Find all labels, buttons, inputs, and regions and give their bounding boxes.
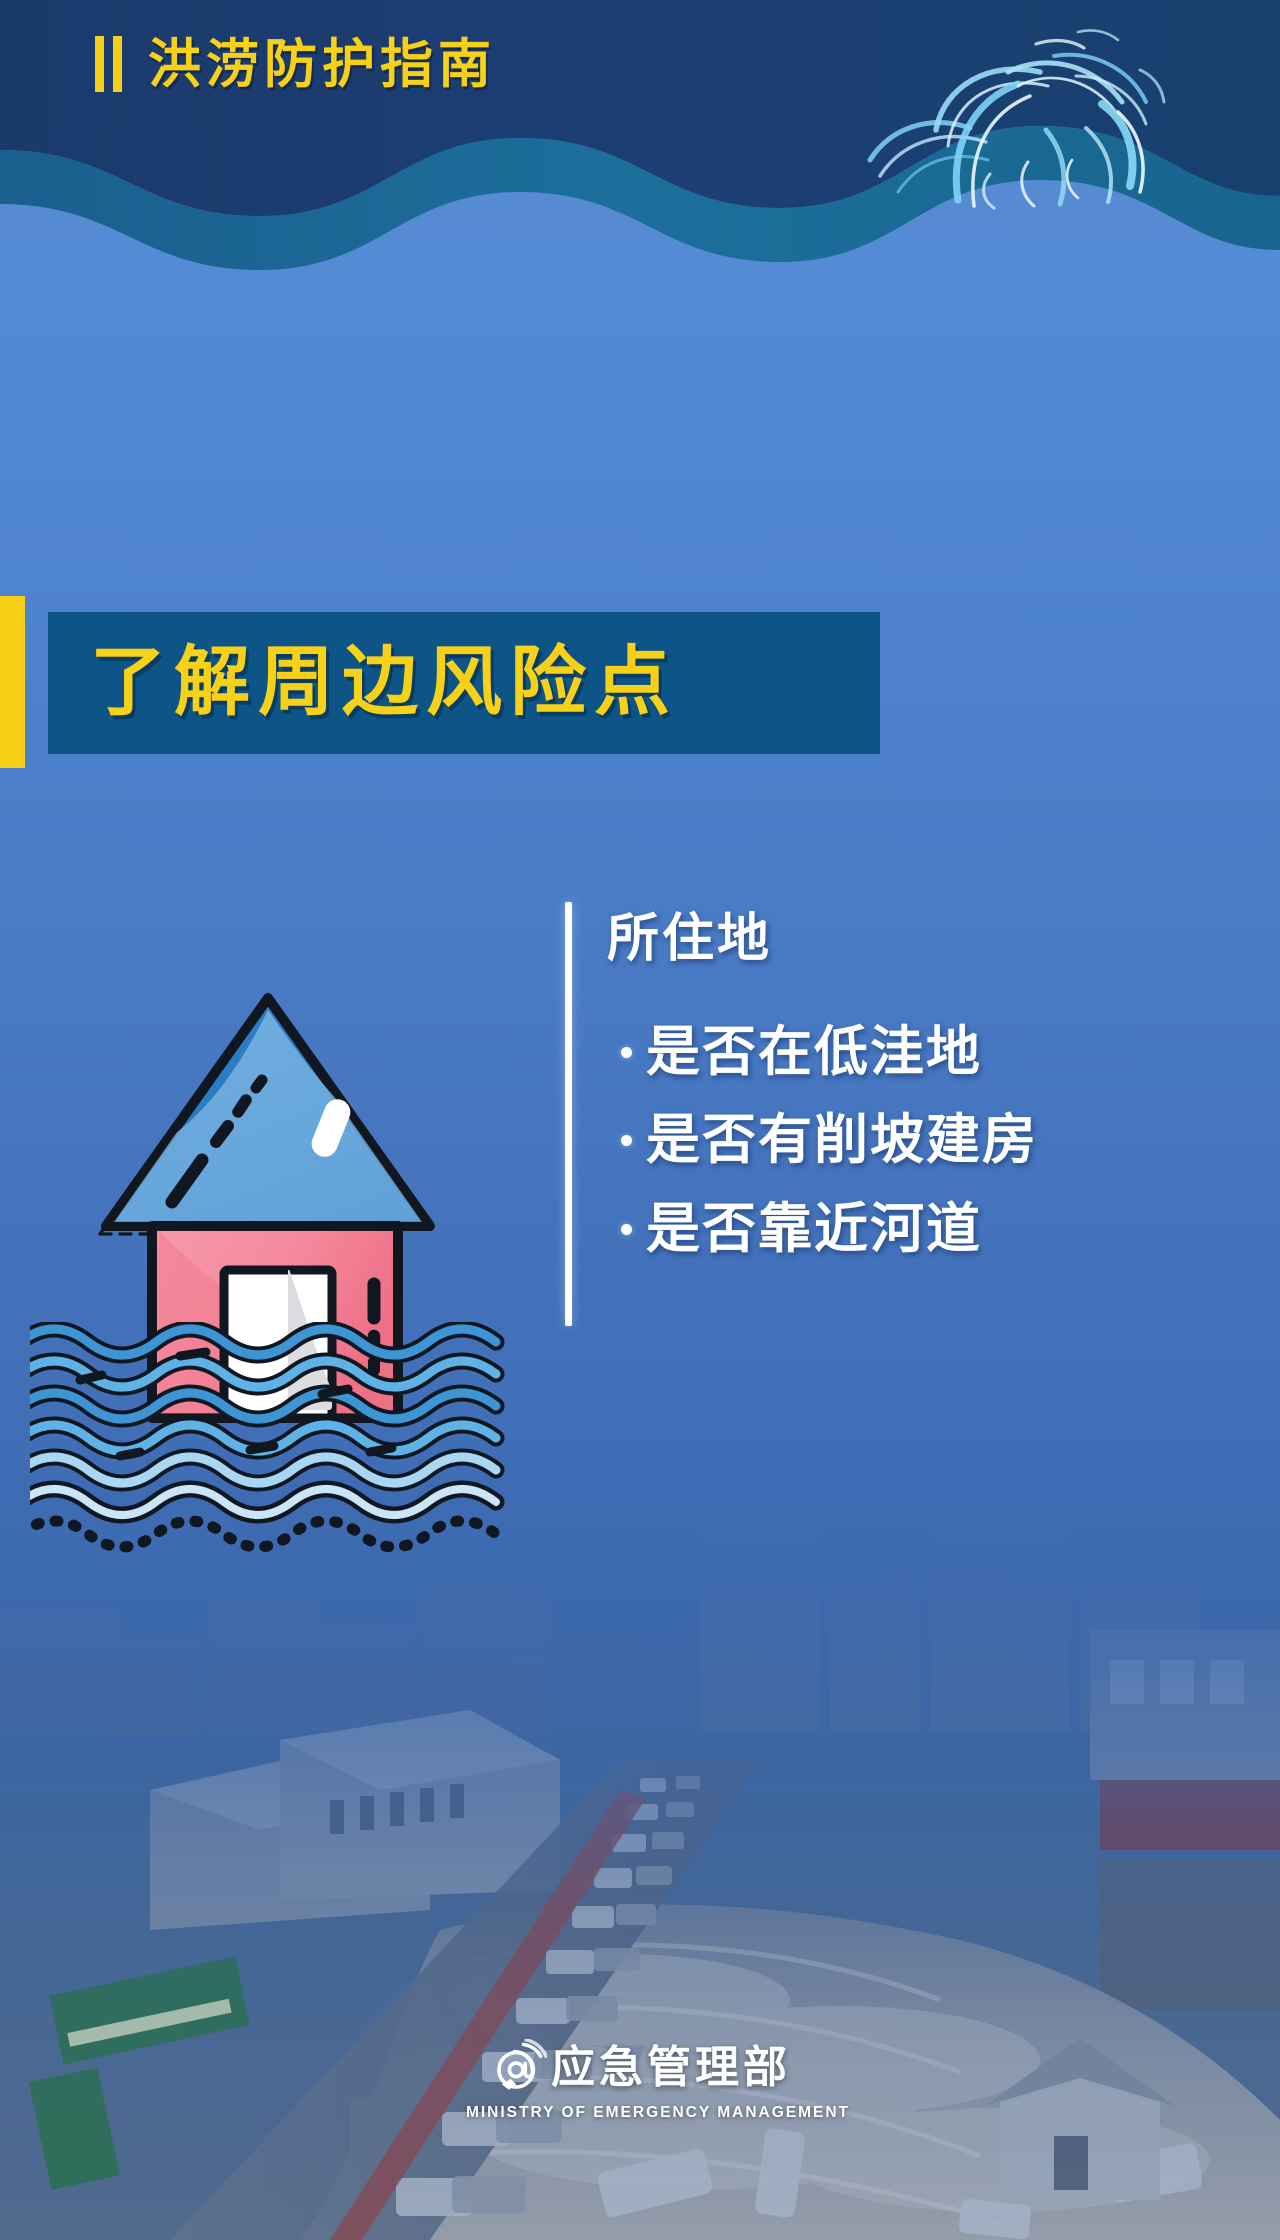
list-item-label: 是否在低洼地 xyxy=(646,1022,982,1082)
list-item: 是否有削坡建房 xyxy=(621,1110,1038,1170)
list-item-label: 是否靠近河道 xyxy=(646,1199,982,1259)
bullet-dot-icon xyxy=(621,1047,632,1058)
page-title-text: 洪涝防护指南 xyxy=(148,38,496,91)
flood-disaster-photo xyxy=(0,1460,1280,2240)
footer-logo: 应急管理部 MINISTRY OF EMERGENCY MANAGEMENT xyxy=(0,2039,1280,2122)
banner-accent-bar xyxy=(0,596,25,768)
footer-org-name-en: MINISTRY OF EMERGENCY MANAGEMENT xyxy=(466,2104,850,2122)
title-accent-bars-icon xyxy=(95,36,122,92)
page-title: 洪涝防护指南 xyxy=(95,36,496,92)
at-sign-emblem-icon xyxy=(489,2039,547,2097)
ocean-wave-icon xyxy=(840,10,1180,210)
flooded-house-icon xyxy=(30,950,530,1560)
list-item: 是否在低洼地 xyxy=(621,1022,1038,1082)
section-banner: 了解周边风险点 xyxy=(0,596,920,768)
list-item-label: 是否有削坡建房 xyxy=(646,1110,1038,1170)
bullet-dot-icon xyxy=(621,1224,632,1235)
section-heading: 了解周边风险点 xyxy=(48,645,678,721)
flood-scene-illustration xyxy=(0,1460,1280,2240)
header-band: 洪涝防护指南 xyxy=(0,0,1280,290)
poster-root: 洪涝防护指南 了解周边风险点 所住地 是否在低洼地 是否有削坡建房 是否靠近河道 xyxy=(0,0,1280,2240)
checklist-group-label: 所住地 xyxy=(607,896,772,971)
footer-org-name-cn: 应急管理部 xyxy=(551,2046,791,2090)
checklist-items: 是否在低洼地 是否有削坡建房 是否靠近河道 xyxy=(621,1022,1038,1287)
banner-box: 了解周边风险点 xyxy=(48,612,880,754)
checklist-divider xyxy=(565,902,572,1326)
list-item: 是否靠近河道 xyxy=(621,1199,1038,1259)
bullet-dot-icon xyxy=(621,1135,632,1146)
